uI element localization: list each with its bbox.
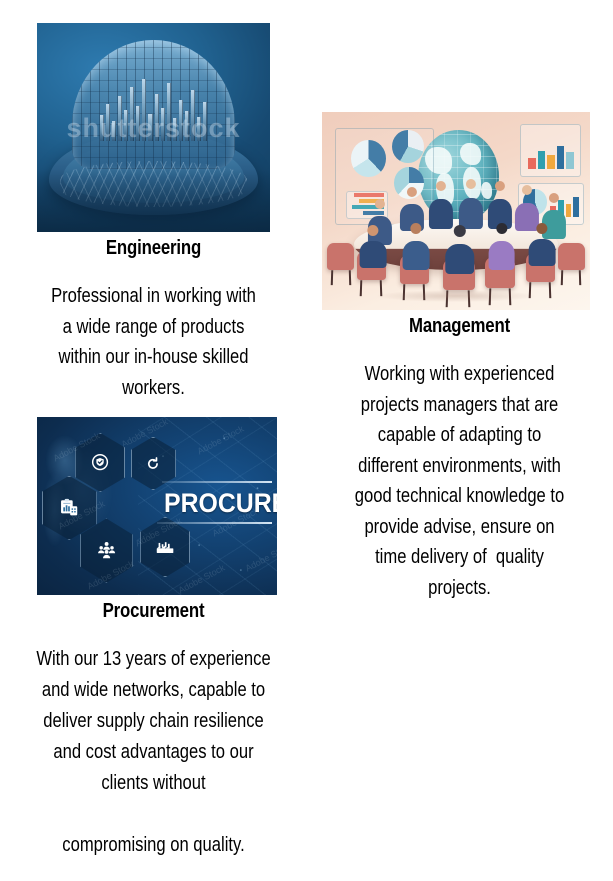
image-watermark: shutterstock bbox=[37, 113, 270, 144]
service-card-engineering: shutterstock Engineering Professional in… bbox=[0, 23, 307, 423]
card-body-procurement: With our 13 years of experience and wide… bbox=[36, 644, 271, 861]
card-body-management: Working with experienced projects manage… bbox=[350, 359, 568, 603]
card-title-procurement: Procurement bbox=[35, 598, 273, 624]
service-card-management: Management Working with experienced proj… bbox=[306, 112, 613, 623]
card-body-engineering: Professional in working with a wide rang… bbox=[48, 281, 260, 403]
engineering-hardhat-city-image: shutterstock bbox=[37, 23, 270, 232]
service-card-procurement: PROCUREMENT Adobe Stock Adobe Stock Adob… bbox=[0, 417, 307, 881]
card-title-management: Management bbox=[349, 313, 570, 339]
brochure-page: shutterstock Engineering Professional in… bbox=[0, 0, 613, 838]
management-meeting-globe-image bbox=[322, 112, 590, 310]
card-title-engineering: Engineering bbox=[46, 235, 260, 261]
procurement-hexagon-infographic-image: PROCUREMENT Adobe Stock Adobe Stock Adob… bbox=[37, 417, 277, 595]
procurement-headline: PROCUREMENT bbox=[164, 488, 277, 519]
